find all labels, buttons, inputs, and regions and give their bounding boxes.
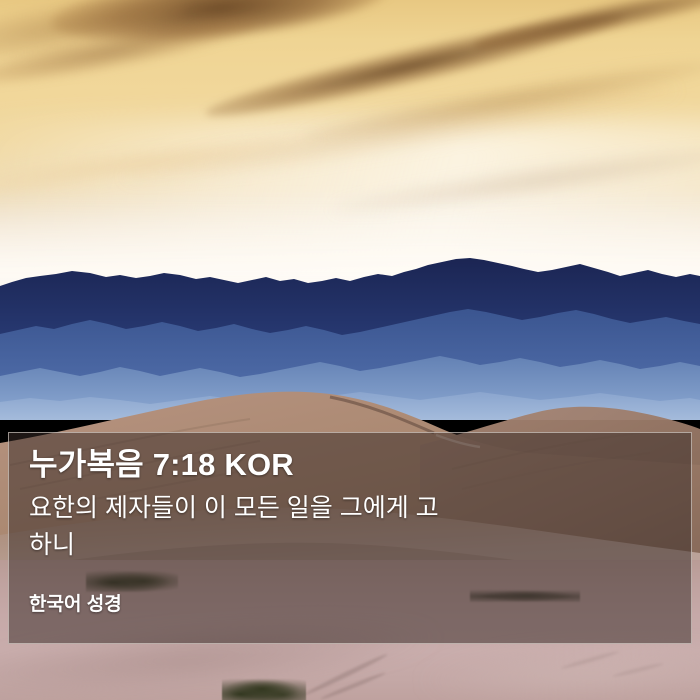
desert-shrub-icon	[222, 676, 306, 700]
verse-line: 요한의 제자들이 이 모든 일을 그에게 고	[29, 490, 671, 527]
verse-line: 하니	[29, 527, 671, 564]
bible-version-subtitle: 한국어 성경	[29, 589, 671, 616]
verse-text-banner: 누가복음 7:18 KOR 요한의 제자들이 이 모든 일을 그에게 고 하니 …	[8, 432, 692, 644]
verse-reference-title: 누가복음 7:18 KOR	[29, 445, 671, 484]
verse-body-text: 요한의 제자들이 이 모든 일을 그에게 고 하니	[29, 490, 671, 563]
verse-image-card: 누가복음 7:18 KOR 요한의 제자들이 이 모든 일을 그에게 고 하니 …	[0, 0, 700, 700]
